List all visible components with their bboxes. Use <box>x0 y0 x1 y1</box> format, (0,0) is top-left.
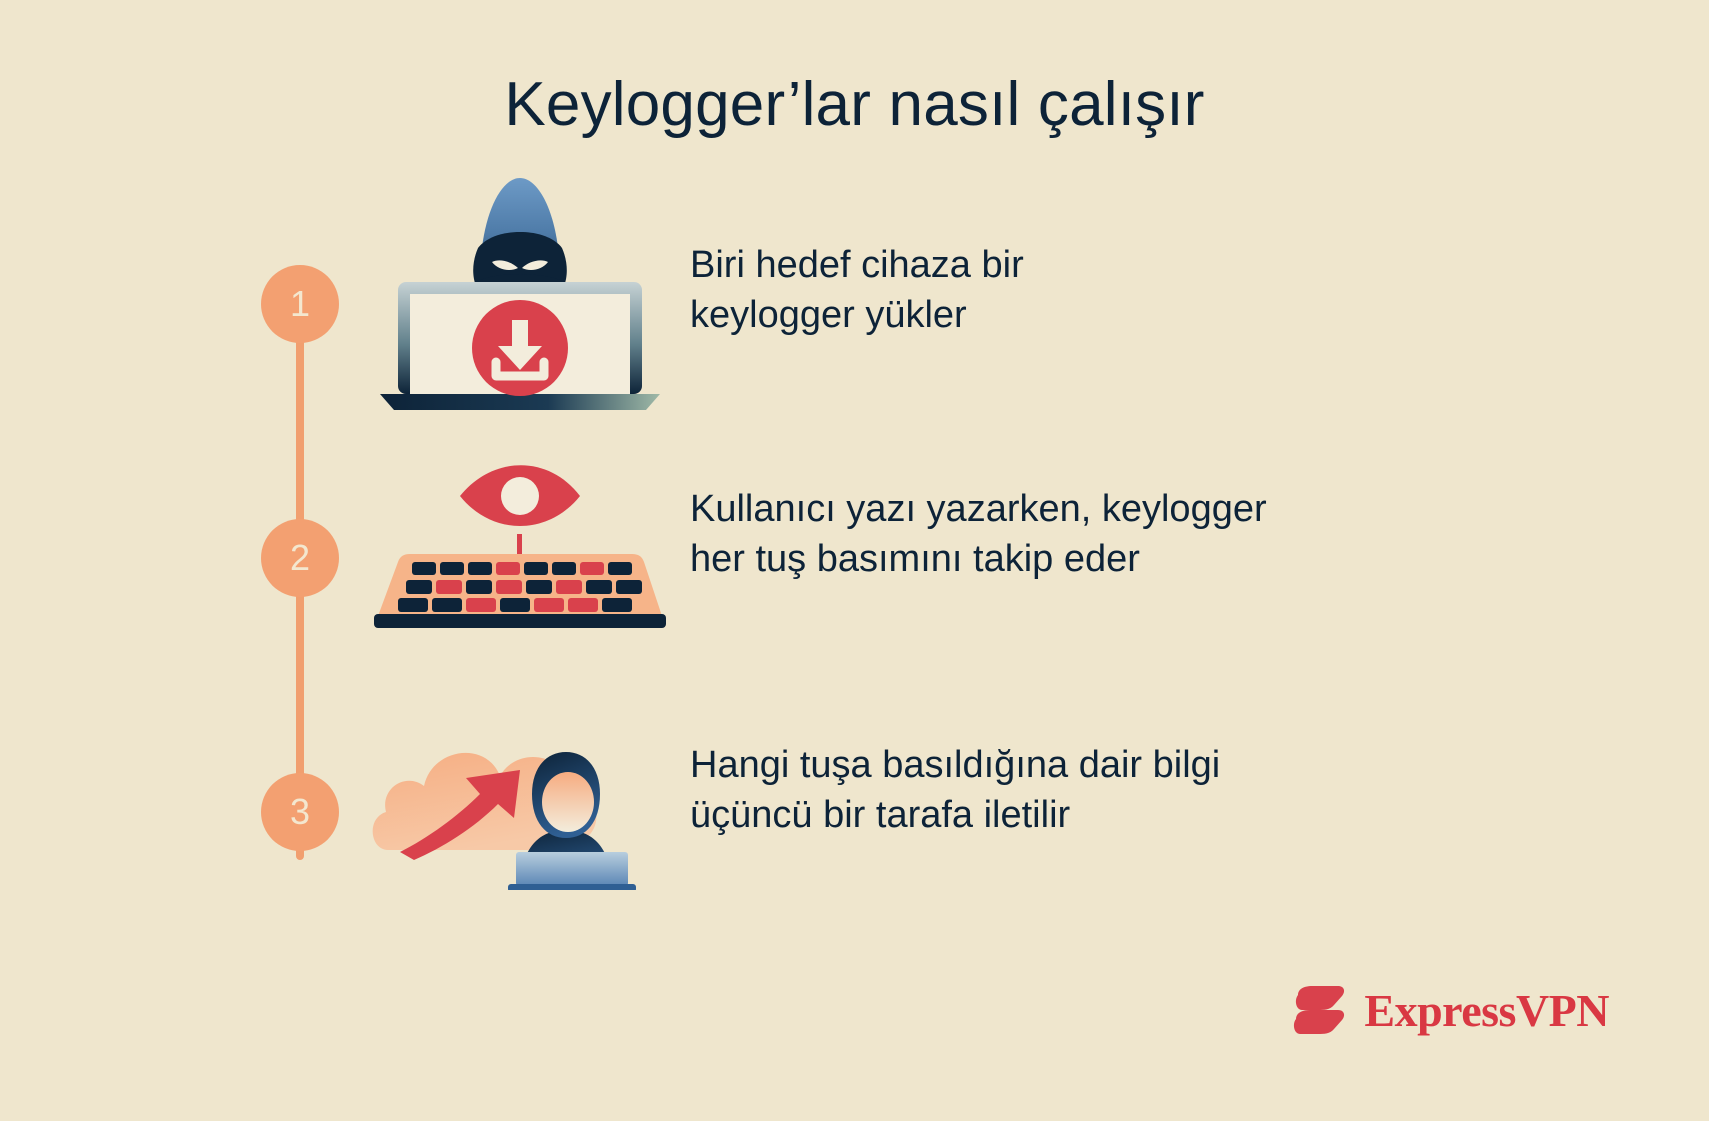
brand-lockup: ExpressVPN <box>1288 979 1609 1041</box>
step-number-badge-1: 1 <box>261 265 339 343</box>
step-description-2: Kullanıcı yazı yazarken, keylogger her t… <box>690 484 1267 584</box>
step-description-3: Hangi tuşa basıldığına dair bilgi üçüncü… <box>690 740 1220 840</box>
step-number-badge-3: 3 <box>261 773 339 851</box>
step-number-badge-2: 2 <box>261 519 339 597</box>
hacker-laptop-download-icon <box>370 170 670 410</box>
step-row-3: Hangi tuşa basıldığına dair bilgi üçüncü… <box>370 690 1670 890</box>
step-number-label: 1 <box>290 286 310 322</box>
step-row-1: Biri hedef cihaza bir keylogger yükler <box>370 170 1670 410</box>
brand-name: ExpressVPN <box>1364 984 1609 1037</box>
page-title: Keylogger’lar nasıl çalışır <box>0 72 1709 137</box>
eye-keyboard-icon <box>370 434 670 634</box>
cloud-arrow-hacker-icon <box>370 690 670 890</box>
infographic-canvas: Keylogger’lar nasıl çalışır 1 2 3 <box>0 0 1709 1121</box>
step-number-label: 3 <box>290 794 310 830</box>
step-description-1: Biri hedef cihaza bir keylogger yükler <box>690 240 1024 340</box>
expressvpn-logo-icon <box>1288 979 1350 1041</box>
step-row-2: Kullanıcı yazı yazarken, keylogger her t… <box>370 434 1670 634</box>
step-number-label: 2 <box>290 540 310 576</box>
